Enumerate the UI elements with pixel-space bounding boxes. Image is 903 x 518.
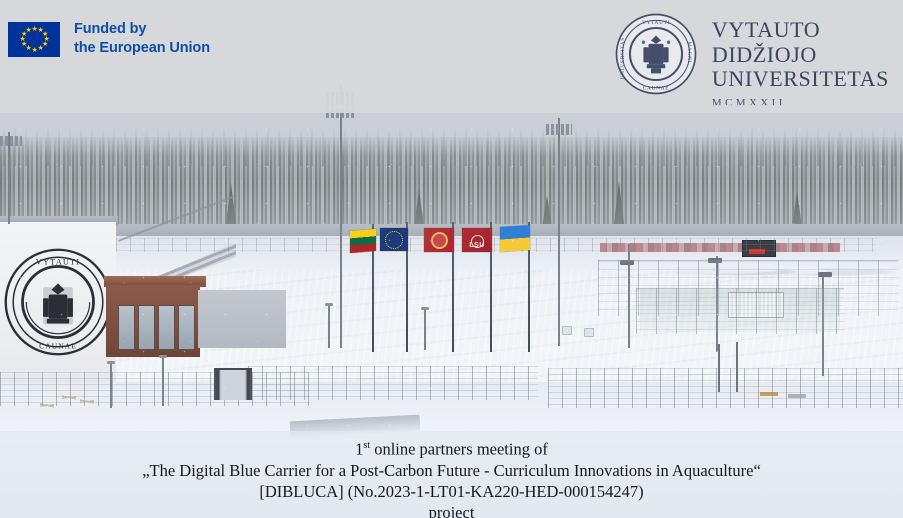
caption-line-1: 1st online partners meeting of: [355, 435, 548, 460]
presentation-slide: VYTAUTI CAUNAE: [0, 0, 903, 518]
vmu-wordmark: VYTAUTO DIDŽIOJO UNIVERSITETAS MCMXXII: [712, 12, 889, 109]
eu-star: ★: [32, 48, 37, 53]
vmu-founding-year: MCMXXII: [712, 97, 889, 109]
eu-funding-line1: Funded by: [74, 21, 146, 37]
caption-line1-rest: online partners meeting of: [370, 440, 548, 459]
eu-funding-text: Funded bythe European Union: [74, 20, 210, 58]
caption-project-title: „The Digital Blue Carrier for a Post-Car…: [142, 460, 761, 481]
vytautas-magnus-university-seal-icon: VYTAUTI CAUNAE UNIVERSITAS MAGNI: [614, 12, 698, 96]
vmu-logo: VYTAUTI CAUNAE UNIVERSITAS MAGNI VYTAUTO…: [614, 12, 889, 109]
caption-band: 1st online partners meeting of „The Digi…: [0, 431, 903, 518]
vmu-word-line2: DIDŽIOJO: [712, 43, 889, 68]
vmu-word-line3: UNIVERSITETAS: [712, 67, 889, 92]
eu-star: ★: [38, 46, 43, 51]
svg-text:MAGNI: MAGNI: [686, 42, 692, 64]
header-band: ★ ★ ★ ★ ★ ★ ★ ★ ★ ★ ★ ★ Funded bythe Eur…: [0, 0, 903, 113]
eu-star: ★: [26, 28, 31, 33]
eu-funding-line2: the European Union: [74, 40, 210, 56]
caption-line-4: project: [429, 502, 475, 518]
eu-star: ★: [32, 27, 37, 32]
vmu-word-line1: VYTAUTO: [712, 18, 889, 43]
svg-text:VYTAUTI: VYTAUTI: [642, 20, 670, 26]
svg-text:CAUNAE: CAUNAE: [643, 85, 669, 91]
eu-funding-logo: ★ ★ ★ ★ ★ ★ ★ ★ ★ ★ ★ ★ Funded bythe Eur…: [8, 20, 210, 58]
european-union-flag-icon: ★ ★ ★ ★ ★ ★ ★ ★ ★ ★ ★ ★: [8, 22, 60, 57]
caption-project-number: [DIBLUCA] (No.2023-1-LT01-KA220-HED-0001…: [259, 481, 643, 502]
svg-text:UNIVERSITAS: UNIVERSITAS: [620, 37, 626, 79]
